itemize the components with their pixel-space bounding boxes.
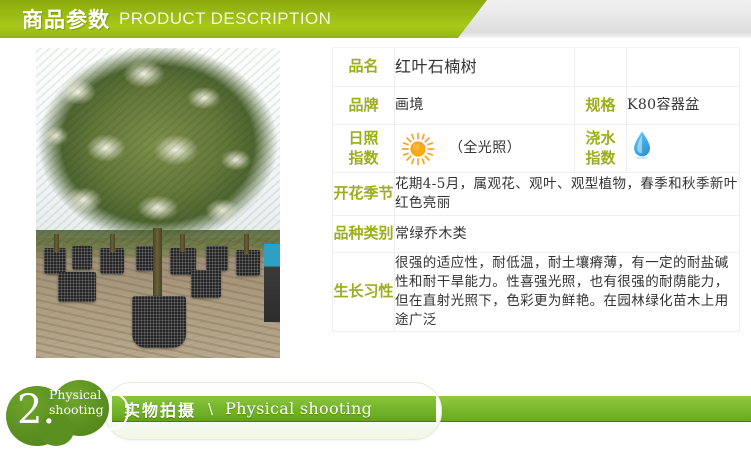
page-title-cn: 商品参数 <box>22 4 110 34</box>
spec-value-brand: 画境 <box>395 87 575 125</box>
sun-icon <box>401 132 435 166</box>
spec-value-variety-type: 常绿乔木类 <box>395 216 740 253</box>
product-spec-table: 品名 红叶石楠树 品牌 画境 规格 K80容器盆 日照 指数 <box>332 47 740 332</box>
photo-pot <box>72 246 92 270</box>
spec-value-name: 红叶石楠树 <box>395 48 575 87</box>
spec-value-empty-1 <box>627 48 740 87</box>
table-row: 品种类别 常绿乔木类 <box>333 216 740 253</box>
spec-value-specification: K80容器盆 <box>627 87 740 125</box>
badge-english-line1: Physical <box>49 387 123 402</box>
photo-trunk-main <box>153 228 162 298</box>
badge-english-line2: shooting <box>49 402 123 417</box>
spec-label-sunlight-index: 日照 指数 <box>333 125 395 173</box>
photo-canopy-texture <box>36 48 280 246</box>
section-header: 商品参数 PRODUCT DESCRIPTION <box>0 0 751 40</box>
spec-value-growth-habit: 很强的适应性，耐低温，耐土壤瘠薄，有一定的耐盐碱性和耐干旱能力。性喜强光照，也有… <box>395 253 740 332</box>
photo-pot <box>191 270 221 298</box>
spec-value-watering <box>627 125 740 173</box>
table-row: 生长习性 很强的适应性，耐低温，耐土壤瘠薄，有一定的耐盐碱性和耐干旱能力。性喜强… <box>333 253 740 332</box>
step-badge: 2. Physical shooting <box>4 380 122 446</box>
photo-pot-foreground <box>132 296 186 348</box>
spec-label-growth-habit: 生长习性 <box>333 253 395 332</box>
water-drop-icon <box>631 148 653 164</box>
photo-trunk <box>110 234 115 252</box>
photo-trunk <box>54 234 59 252</box>
table-row: 品牌 画境 规格 K80容器盆 <box>333 87 740 125</box>
product-photo <box>36 48 280 358</box>
spec-label-name: 品名 <box>333 48 395 87</box>
photo-canvas <box>36 48 280 358</box>
banner-title-en: Physical shooting <box>225 399 372 418</box>
banner-heading: 实物拍摄 \ Physical shooting <box>124 396 372 421</box>
photo-trunk <box>244 234 249 254</box>
spec-label-watering-index: 浇水 指数 <box>575 125 627 173</box>
spec-label-sunlight-line2: 指数 <box>333 149 394 168</box>
spec-label-flowering-season: 开花季节 <box>333 173 395 216</box>
spec-value-sunlight-note: （全光照） <box>449 138 521 158</box>
banner-separator: \ <box>208 400 213 418</box>
spec-label-specification: 规格 <box>575 87 627 125</box>
photo-pot <box>58 272 96 302</box>
photo-worker <box>264 244 280 322</box>
section-banner: 实物拍摄 \ Physical shooting 2. Physical sho… <box>0 380 751 446</box>
spec-label-watering-line2: 指数 <box>575 149 626 168</box>
table-row: 日照 指数 <box>333 125 740 173</box>
spec-label-brand: 品牌 <box>333 87 395 125</box>
table-row: 开花季节 花期4-5月，属观花、观叶、观型植物，春季和秋季新叶红色亮丽 <box>333 173 740 216</box>
page-title-en: PRODUCT DESCRIPTION <box>119 9 331 29</box>
spec-value-sunlight: （全光照） <box>395 125 575 173</box>
spec-value-flowering-season: 花期4-5月，属观花、观叶、观型植物，春季和秋季新叶红色亮丽 <box>395 173 740 216</box>
page-title: 商品参数 PRODUCT DESCRIPTION <box>22 3 331 35</box>
table-row: 品名 红叶石楠树 <box>333 48 740 87</box>
badge-english-label: Physical shooting <box>49 387 123 418</box>
photo-pot <box>206 246 228 271</box>
banner-title-cn: 实物拍摄 <box>124 397 196 421</box>
spec-label-empty-1 <box>575 48 627 87</box>
photo-trunk <box>180 234 185 252</box>
spec-label-sunlight-line1: 日照 <box>333 129 394 148</box>
spec-label-watering-line1: 浇水 <box>575 129 626 148</box>
spec-label-variety-type: 品种类别 <box>333 216 395 253</box>
